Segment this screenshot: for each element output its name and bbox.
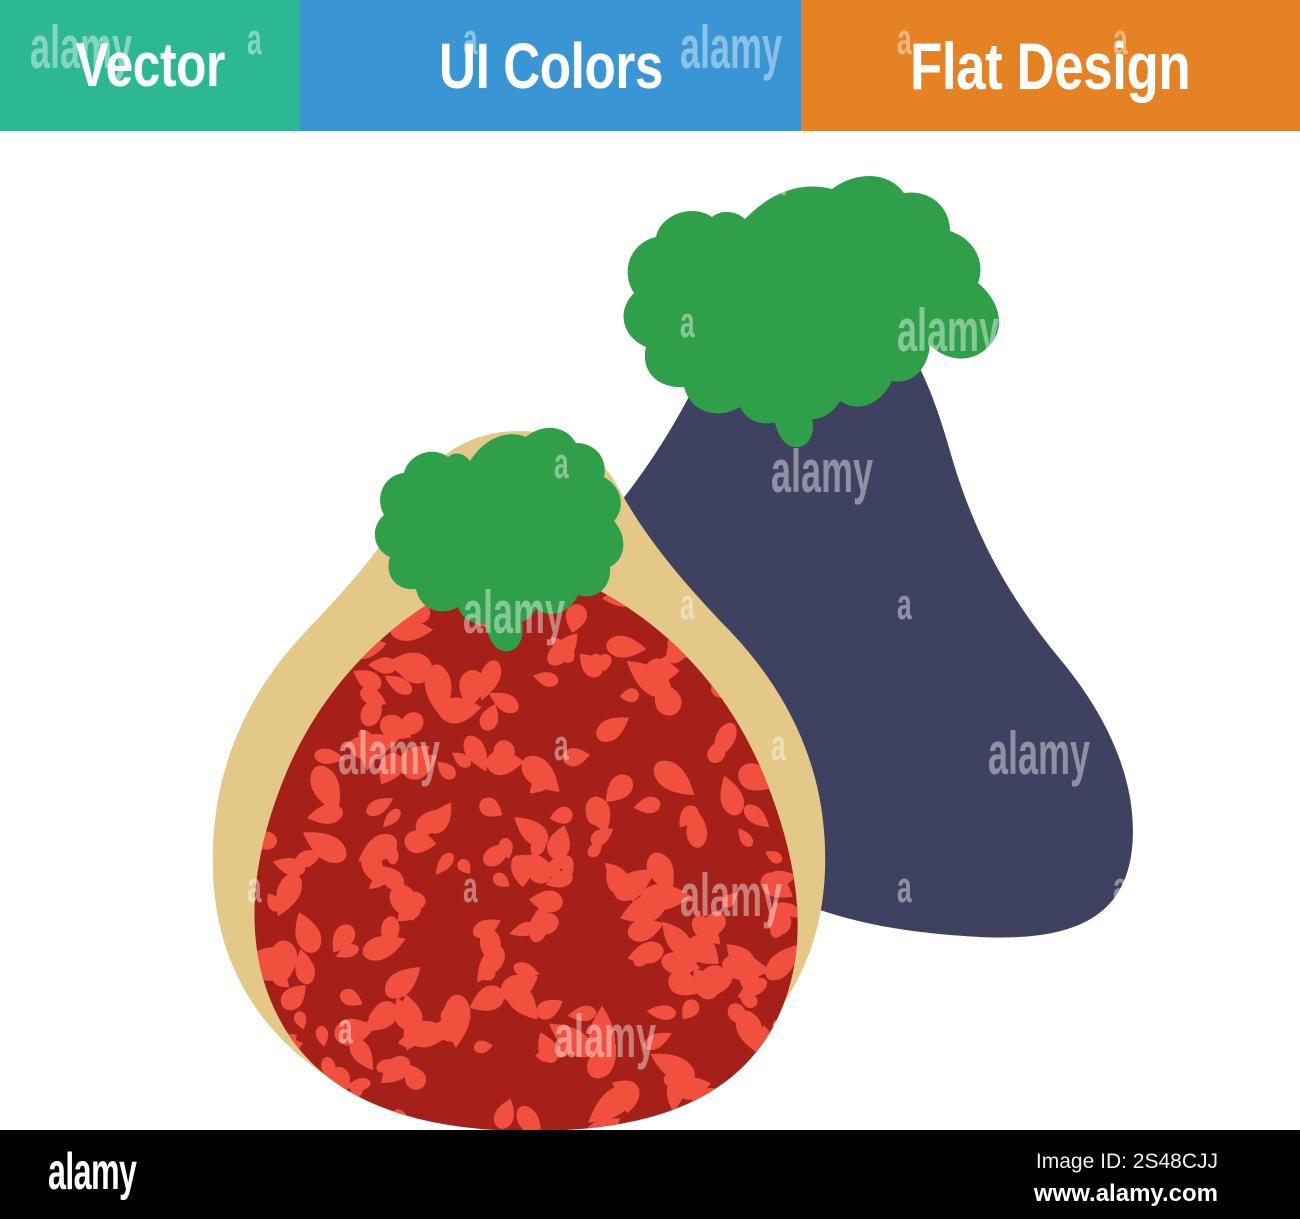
- header-bar-vector: Vector: [0, 0, 300, 131]
- fig-seed: [298, 1094, 324, 1117]
- fig-seed: [266, 1082, 284, 1102]
- header-bar-ui-colors-label: UI Colors: [439, 34, 663, 98]
- fig-seed: [331, 1100, 361, 1131]
- fig-seed: [255, 618, 272, 643]
- footer-meta: Image ID: 2S48CJJ www.alamy.com: [1034, 1149, 1218, 1209]
- fig-seed: [245, 1061, 268, 1085]
- header-bar-ui-colors: UI Colors: [300, 0, 801, 131]
- image-id-label: Image ID: 2S48CJJ: [1034, 1149, 1218, 1175]
- fig-seed: [261, 1058, 280, 1093]
- fig-seed: [237, 1066, 279, 1101]
- fig-seed: [268, 609, 285, 636]
- fig-seed: [725, 1083, 745, 1120]
- fig-seed: [753, 1115, 769, 1131]
- alamy-logo: alamy: [48, 1146, 136, 1198]
- header-bar-flat-design: Flat Design: [801, 0, 1300, 131]
- header-bar-flat-design-label: Flat Design: [910, 33, 1190, 99]
- fig-seed: [733, 1112, 764, 1131]
- header-bar-vector-label: Vector: [75, 35, 224, 97]
- alamy-url: www.alamy.com: [1034, 1179, 1218, 1209]
- fig-illustration-svg: [0, 131, 1300, 1131]
- fig-fruit-illustration: [0, 131, 1300, 1131]
- footer-bar: alamy Image ID: 2S48CJJ www.alamy.com: [0, 1130, 1300, 1219]
- illustration-canvas: Vector UI Colors Flat Design: [0, 0, 1300, 1219]
- whole-fig-leaf: [624, 176, 1000, 423]
